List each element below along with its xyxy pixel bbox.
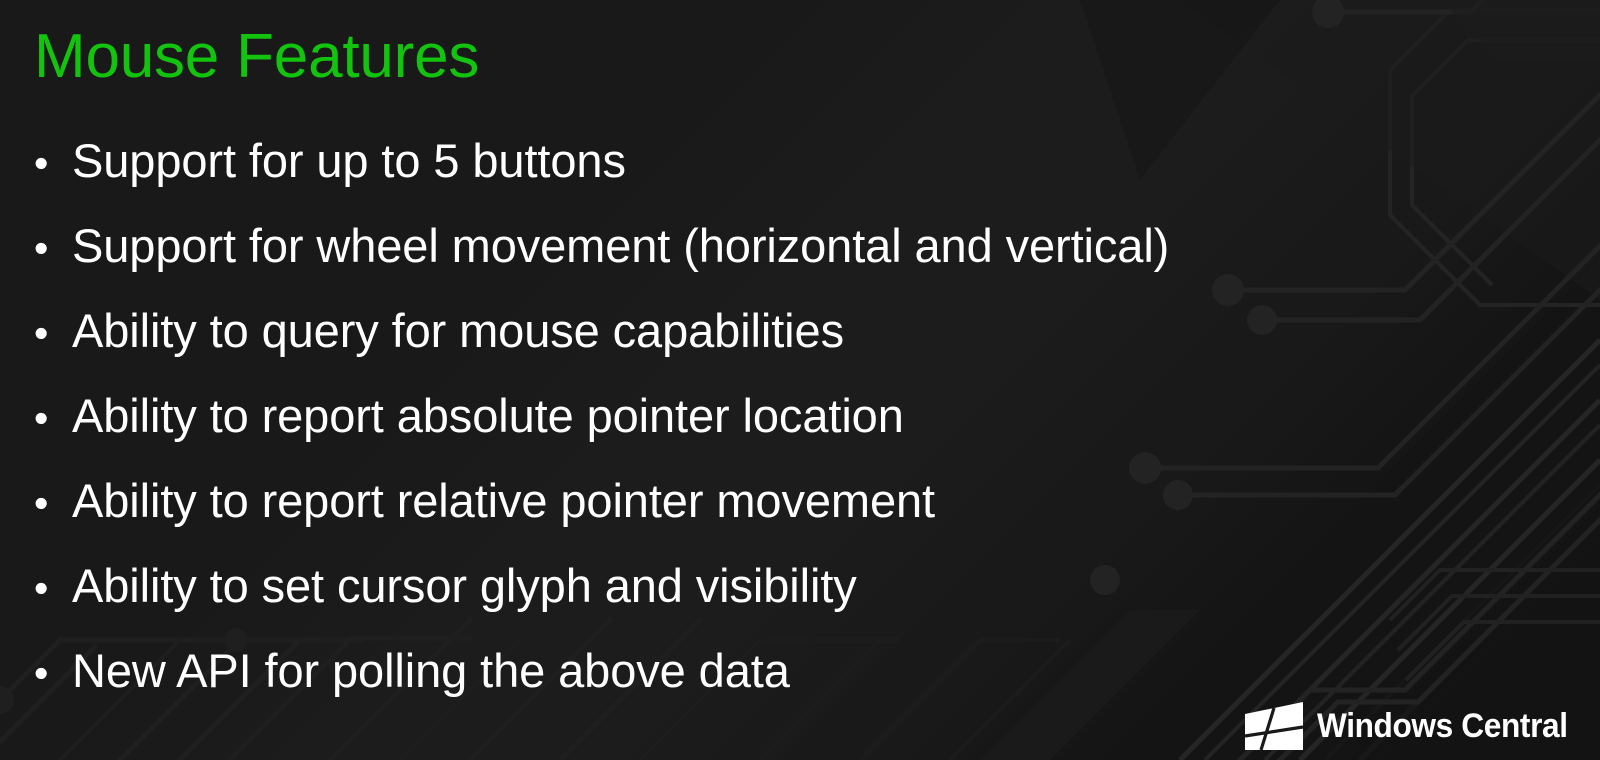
list-item-label: Ability to report absolute pointer locat… xyxy=(72,373,904,458)
bullet-point-icon: • xyxy=(34,631,72,716)
watermark-logo: Windows Central xyxy=(1243,700,1587,752)
list-item: • Ability to query for mouse capabilitie… xyxy=(34,288,1434,373)
bullet-point-icon: • xyxy=(34,546,72,631)
list-item: • Support for wheel movement (horizontal… xyxy=(34,203,1434,288)
feature-bullet-list: • Support for up to 5 buttons • Support … xyxy=(34,118,1434,713)
list-item-label: Support for up to 5 buttons xyxy=(72,118,626,203)
list-item-label: Support for wheel movement (horizontal a… xyxy=(72,203,1169,288)
brand-name: Windows Central xyxy=(1317,707,1568,746)
list-item: • Ability to report relative pointer mov… xyxy=(34,458,1434,543)
bullet-point-icon: • xyxy=(34,376,72,461)
list-item-label: New API for polling the above data xyxy=(72,628,790,713)
presentation-slide: Mouse Features • Support for up to 5 but… xyxy=(0,0,1600,760)
bullet-point-icon: • xyxy=(34,121,72,206)
list-item-label: Ability to query for mouse capabilities xyxy=(72,288,844,373)
list-item: • Ability to report absolute pointer loc… xyxy=(34,373,1434,458)
list-item-label: Ability to set cursor glyph and visibili… xyxy=(72,543,857,628)
list-item: • Support for up to 5 buttons xyxy=(34,118,1434,203)
list-item: • Ability to set cursor glyph and visibi… xyxy=(34,543,1434,628)
page-title: Mouse Features xyxy=(34,24,479,89)
list-item: • New API for polling the above data xyxy=(34,628,1434,713)
bullet-point-icon: • xyxy=(34,206,72,291)
windows-flag-icon xyxy=(1243,700,1305,752)
bullet-point-icon: • xyxy=(34,461,72,546)
bullet-point-icon: • xyxy=(34,291,72,376)
list-item-label: Ability to report relative pointer movem… xyxy=(72,458,935,543)
